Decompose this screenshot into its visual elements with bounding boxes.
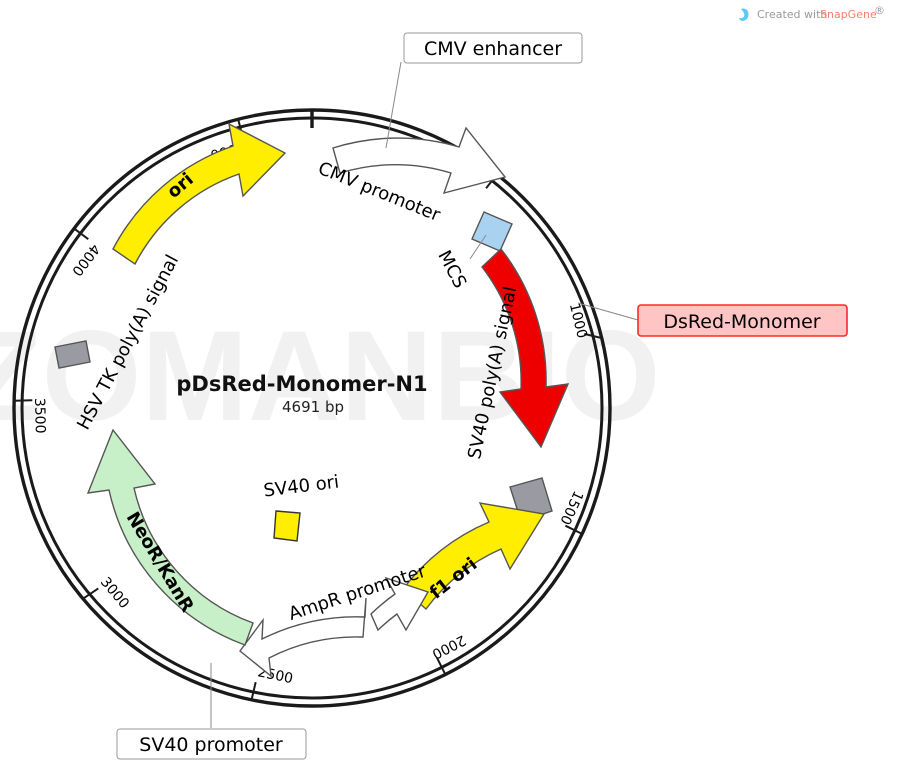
sv40-promoter-callout[interactable]: SV40 promoter: [117, 729, 306, 759]
dsred-monomer-callout[interactable]: DsRed-Monomer: [638, 305, 847, 336]
snapgene-brand-prefix: Created with: [757, 8, 827, 21]
snapgene-brand: Created with SnapGene ®: [739, 4, 885, 21]
feature-ori[interactable]: [113, 124, 285, 264]
cmv-enhancer-leader-line: [386, 62, 401, 148]
tick-label-1500: 1500: [556, 488, 586, 527]
cmv-enhancer-callout[interactable]: CMV enhancer: [404, 33, 582, 63]
feature-mcs[interactable]: [472, 212, 512, 251]
sv40-promoter-callout-label: SV40 promoter: [139, 734, 283, 756]
snapgene-trademark: ®: [874, 4, 885, 17]
feature-sv40-ori[interactable]: [274, 511, 300, 541]
snapgene-logo-icon: [739, 9, 749, 21]
feature-neor-kanr[interactable]: [88, 430, 253, 645]
plasmid-map: ZOMANBIO 500 1000 1500 2000 2500 3000 35…: [0, 0, 900, 763]
neor-kanr-arc-label: NeoR/KanR: [122, 508, 198, 616]
tick-label-3500: 3500: [31, 398, 48, 434]
tick-label-4000: 4000: [68, 241, 102, 279]
plasmid-name: pDsRed-Monomer-N1: [176, 372, 427, 396]
dsred-monomer-callout-label: DsRed-Monomer: [663, 311, 820, 333]
mcs-label: MCS: [433, 247, 470, 292]
sv40-ori-label: SV40 ori: [262, 472, 340, 502]
cmv-enhancer-callout-label: CMV enhancer: [424, 38, 562, 60]
snapgene-brand-name: SnapGene: [820, 8, 877, 21]
cmv-promoter-label: CMV promoter: [315, 158, 444, 226]
plasmid-size: 4691 bp: [282, 398, 344, 416]
